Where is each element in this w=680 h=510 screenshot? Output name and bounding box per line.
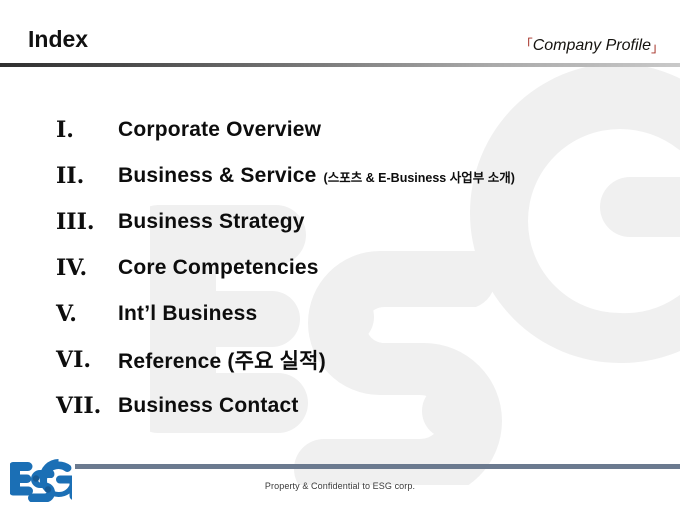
index-title-wrap: Reference (주요 실적) <box>118 345 326 375</box>
index-title: Business Strategy <box>118 210 305 234</box>
index-title-wrap: Int’l Business <box>118 302 257 326</box>
index-title-wrap: Business & Service (스포츠 & E-Business 사업부… <box>118 164 515 188</box>
index-numeral: II. <box>56 163 84 189</box>
slide-header: Index 「Company Profile」 <box>0 0 680 66</box>
index-item-6[interactable]: VI. Reference (주요 실적) <box>0 337 680 383</box>
index-numeral: V. <box>56 301 77 327</box>
index-title: Core Competencies <box>118 256 319 280</box>
page-title: Index <box>28 28 88 51</box>
header-subtitle: 「Company Profile」 <box>520 38 664 54</box>
index-item-3[interactable]: III. Business Strategy <box>0 199 680 245</box>
slide-index: Index 「Company Profile」 I. Corporate Ove… <box>0 0 680 510</box>
index-title-wrap: Business Contact <box>118 394 299 418</box>
index-numeral: VI. <box>56 347 91 373</box>
index-numeral: I. <box>56 117 74 143</box>
index-numeral: IV. <box>56 255 87 281</box>
header-subtitle-text: Company Profile <box>533 37 651 54</box>
footer-divider <box>75 464 680 469</box>
index-title: Corporate Overview <box>118 118 321 142</box>
index-title-wrap: Corporate Overview <box>118 118 321 142</box>
confidentiality-note: Property & Confidential to ESG corp. <box>0 481 680 491</box>
index-title-wrap: Core Competencies <box>118 256 319 280</box>
index-numeral: III. <box>56 209 95 235</box>
index-subtitle: (스포츠 & E-Business 사업부 소개) <box>324 167 515 186</box>
index-list: I. Corporate Overview II. Business & Ser… <box>0 107 680 429</box>
index-title-wrap: Business Strategy <box>118 210 305 234</box>
index-title: Reference (주요 실적) <box>118 345 326 375</box>
header-divider <box>0 63 680 67</box>
index-numeral: VII. <box>56 393 101 419</box>
index-title: Int’l Business <box>118 302 257 326</box>
index-item-2[interactable]: II. Business & Service (스포츠 & E-Business… <box>0 153 680 199</box>
index-title: Business Contact <box>118 394 299 418</box>
esg-logo <box>10 458 72 502</box>
index-item-7[interactable]: VII. Business Contact <box>0 383 680 429</box>
index-item-1[interactable]: I. Corporate Overview <box>0 107 680 153</box>
bracket-close-icon: 」 <box>651 40 664 55</box>
index-title: Business & Service <box>118 164 317 188</box>
slide-footer: Property & Confidential to ESG corp. <box>0 455 680 510</box>
index-item-4[interactable]: IV. Core Competencies <box>0 245 680 291</box>
bracket-open-icon: 「 <box>520 37 533 52</box>
index-item-5[interactable]: V. Int’l Business <box>0 291 680 337</box>
